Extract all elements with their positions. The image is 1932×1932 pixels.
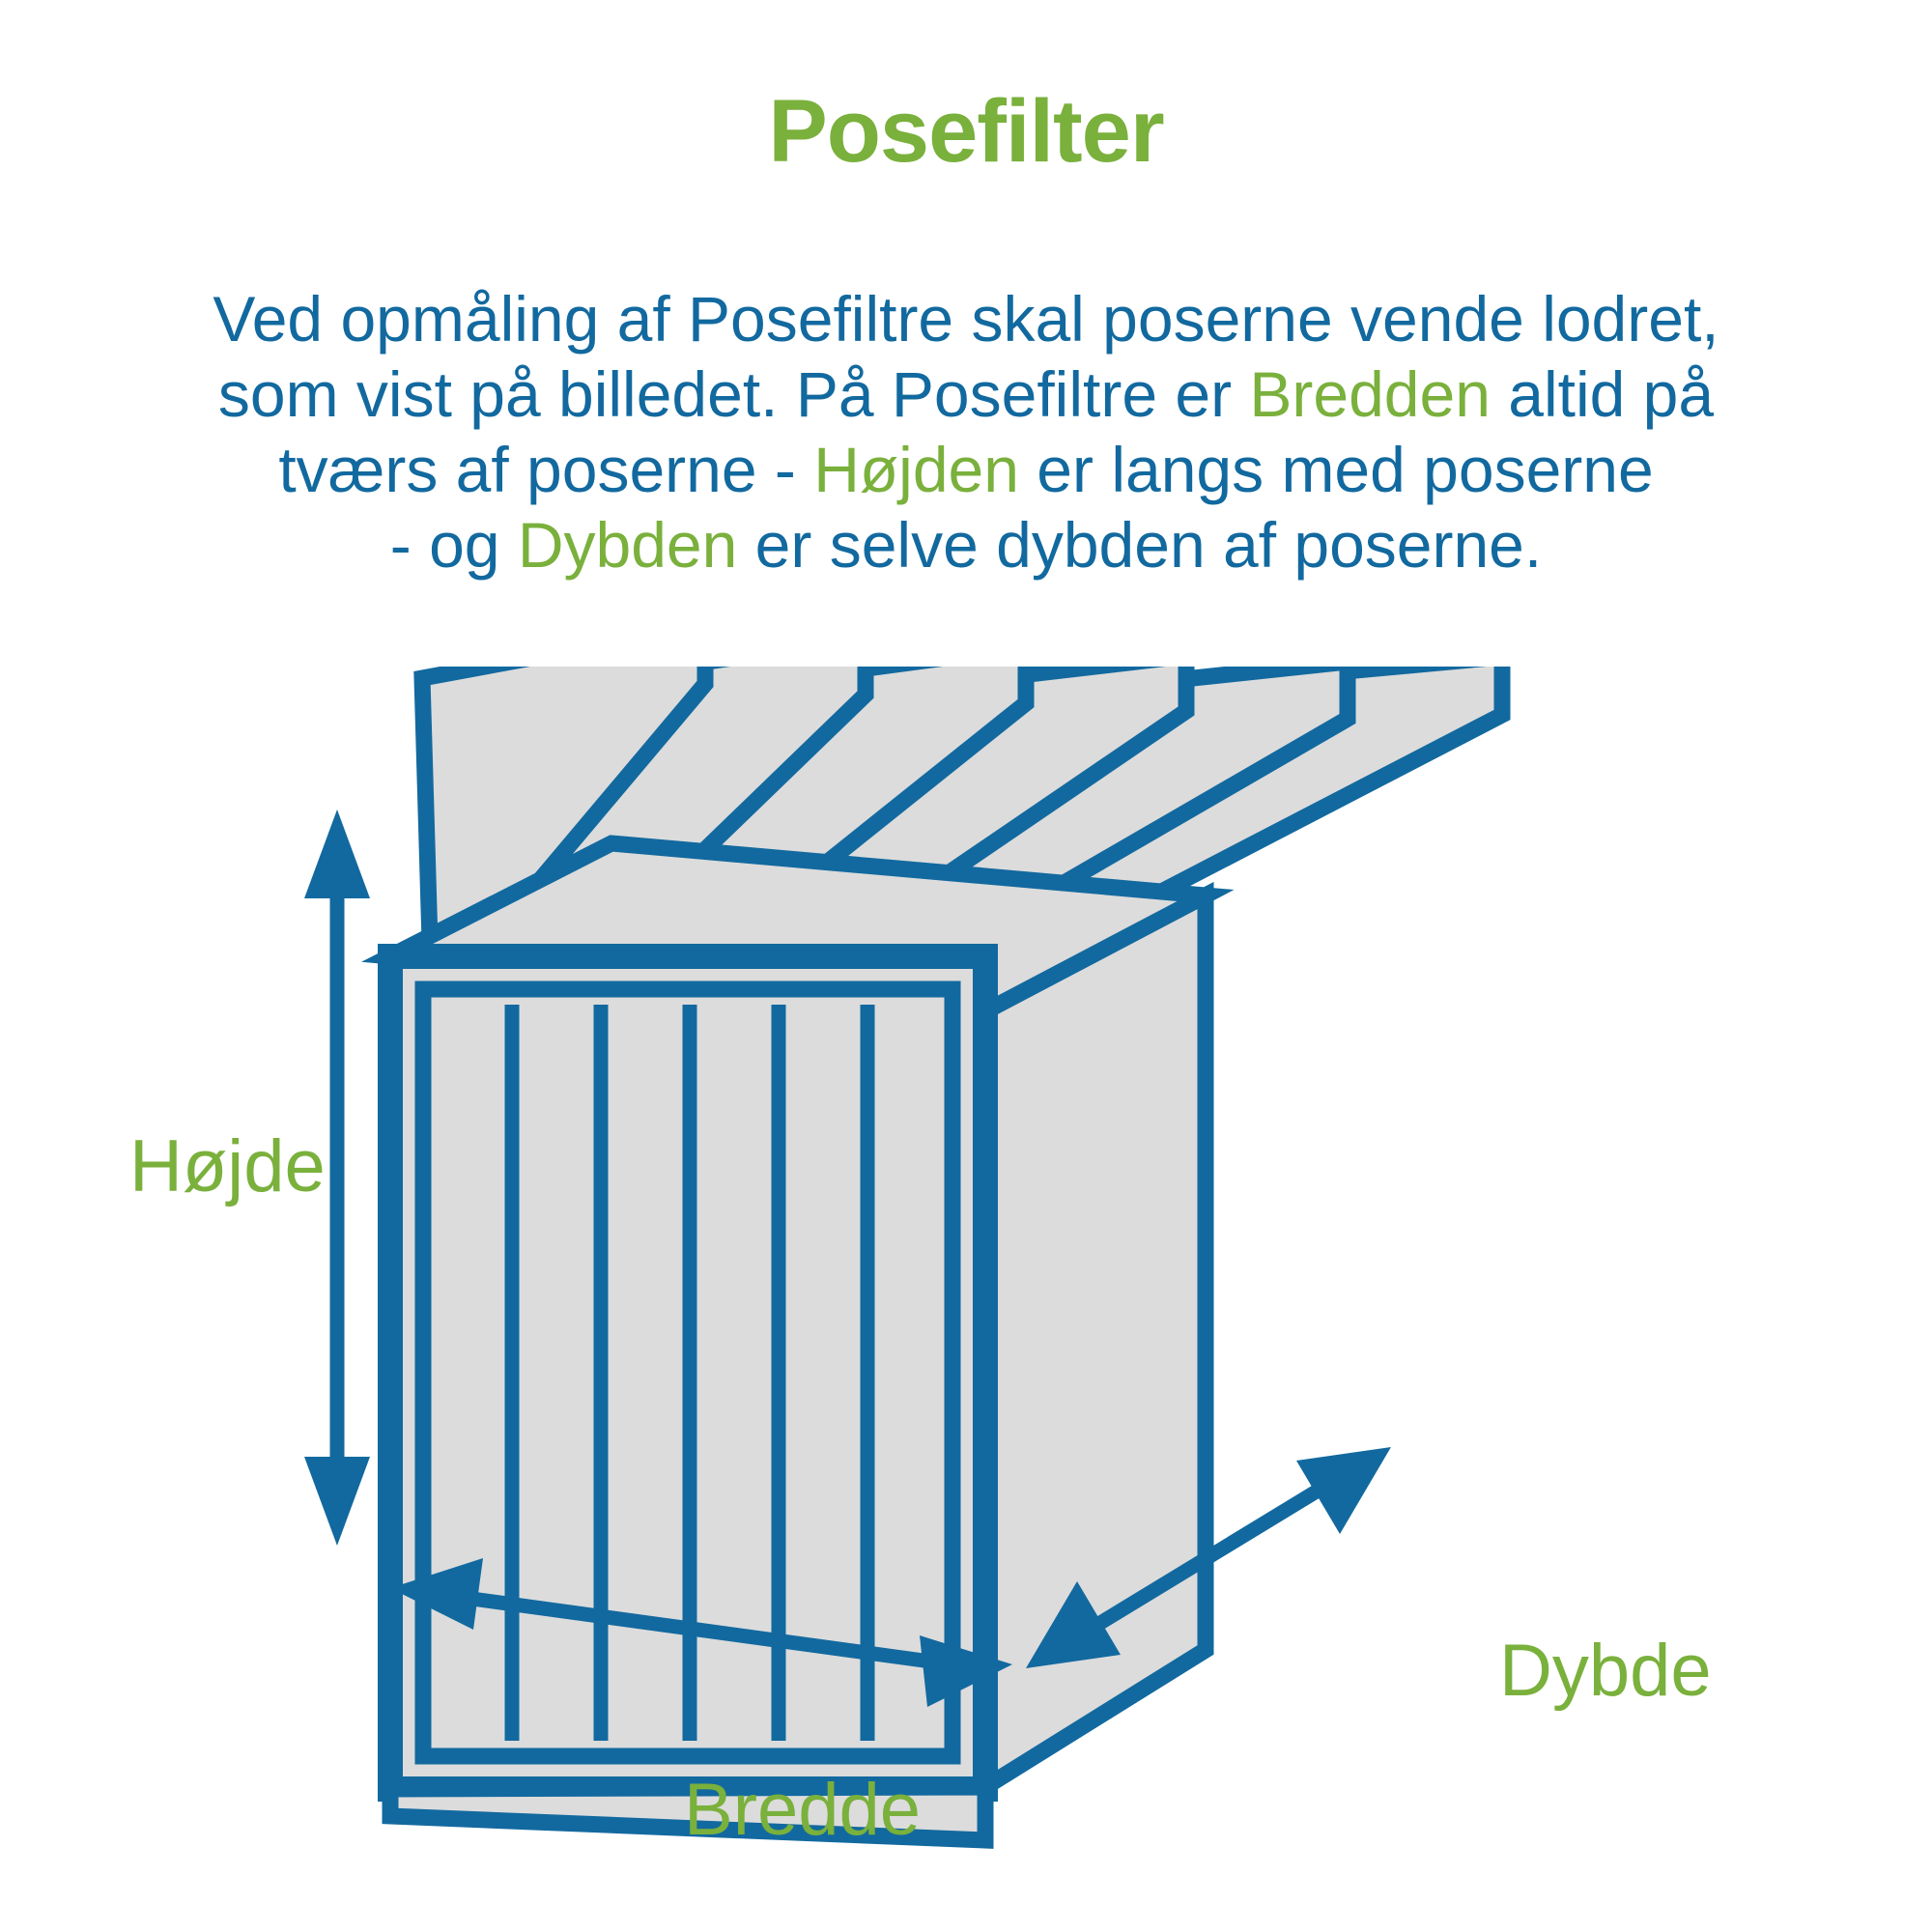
intro-text: er selve dybden af poserne.: [737, 509, 1542, 581]
intro-line-2: som vist på billedet. På Posefiltre er B…: [77, 357, 1855, 433]
page-title: Posefilter: [0, 85, 1932, 179]
poster-canvas: Posefilter Ved opmåling af Posefiltre sk…: [0, 0, 1932, 1932]
intro-text: er langs med poserne: [1019, 434, 1654, 505]
intro-line-1: Ved opmåling af Posefiltre skal poserne …: [77, 282, 1855, 357]
intro-text: - og: [390, 509, 518, 581]
bag-filter-diagram: [0, 667, 1932, 1932]
term-bredden: Bredden: [1249, 358, 1491, 430]
intro-text: som vist på billedet. På Posefiltre er: [218, 358, 1249, 430]
label-height: Højde: [129, 1130, 326, 1204]
label-depth: Dybde: [1499, 1634, 1712, 1708]
term-dybden: Dybden: [518, 509, 738, 581]
intro-paragraph: Ved opmåling af Posefiltre skal poserne …: [77, 282, 1855, 583]
intro-text: altid på: [1491, 358, 1714, 430]
intro-line-4: - og Dybden er selve dybden af poserne.: [77, 508, 1855, 583]
intro-text: tværs af poserne -: [278, 434, 813, 505]
label-width: Bredde: [684, 1774, 921, 1847]
intro-text: Ved opmåling af Posefiltre skal poserne …: [213, 283, 1719, 355]
term-hojden: Højden: [813, 434, 1019, 505]
intro-line-3: tværs af poserne - Højden er langs med p…: [77, 433, 1855, 508]
